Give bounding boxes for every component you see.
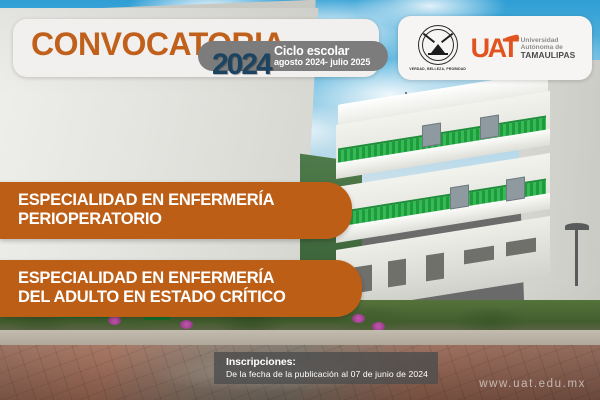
program-banner-perioperatorio: ESPECIALIDAD EN ENFERMERÍA PERIOPERATORI… [0, 182, 352, 239]
convocatoria-poster: CONVOCATORIA Ciclo escolar agosto 2024- … [0, 0, 600, 400]
seal-motto: VERDAD, BELLEZA, PROBIDAD [409, 67, 466, 71]
seal-base-bar [428, 53, 448, 55]
uat-name-line3: TAMAULIPAS [521, 51, 576, 60]
seal-mountain [431, 44, 445, 53]
website-url[interactable]: www.uat.edu.mx [479, 378, 586, 390]
program-2-line1: ESPECIALIDAD EN ENFERMERÍA [18, 269, 328, 288]
uat-name-line1: Universidad [521, 37, 576, 44]
seal-torch-left [423, 33, 435, 43]
school-cycle-label: Ciclo escolar [274, 44, 349, 58]
year-badge: 2024 [212, 50, 271, 80]
program-1-line1: ESPECIALIDAD EN ENFERMERÍA [18, 191, 318, 210]
logo-panel: VERDAD, BELLEZA, PROBIDAD UAT Universida… [398, 16, 592, 80]
uat-fullname: Universidad Autónoma de TAMAULIPAS [521, 37, 576, 60]
inscriptions-box: Inscripciones: De la fecha de la publica… [214, 352, 438, 384]
school-cycle-range: agosto 2024- julio 2025 [274, 57, 370, 67]
uat-seal-icon: VERDAD, BELLEZA, PROBIDAD [415, 25, 461, 71]
program-2-line2: DEL ADULTO EN ESTADO CRÍTICO [18, 288, 328, 307]
program-1-line2: PERIOPERATORIO [18, 210, 318, 229]
seal-torch-right [441, 33, 453, 43]
uat-logo: UAT Universidad Autónoma de TAMAULIPAS [471, 35, 576, 62]
inscriptions-detail: De la fecha de la publicación al 07 de j… [226, 369, 428, 379]
seal-ring [418, 25, 458, 65]
program-banner-adulto-critico: ESPECIALIDAD EN ENFERMERÍA DEL ADULTO EN… [0, 260, 362, 317]
header-title-panel: CONVOCATORIA Ciclo escolar agosto 2024- … [13, 19, 379, 77]
uat-wordmark: UAT [471, 35, 517, 62]
inscriptions-heading: Inscripciones: [226, 356, 428, 368]
